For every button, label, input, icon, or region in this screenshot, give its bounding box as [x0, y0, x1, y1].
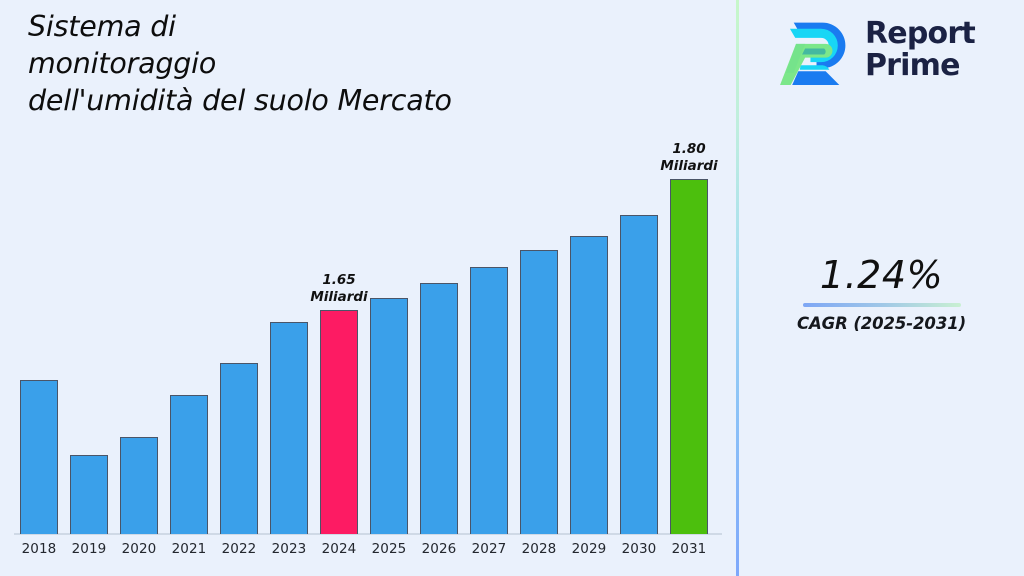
bar-2022[interactable]	[220, 363, 258, 534]
cagr-caption: CAGR (2025-2031)	[739, 314, 1024, 333]
bar-2027[interactable]	[470, 267, 508, 534]
bar-2018[interactable]	[20, 380, 58, 534]
bar-2028[interactable]	[520, 250, 558, 534]
bar-2023[interactable]	[270, 322, 308, 534]
bar-chart-plot: 2018201920202021202220231.65 Miliardi202…	[0, 0, 736, 576]
x-tick-label-2031: 2031	[659, 541, 719, 557]
slide-root: Sistema di monitoraggio dell'umidità del…	[0, 0, 1024, 576]
bar-2026[interactable]	[420, 283, 458, 534]
report-prime-r-logo-icon	[777, 12, 853, 88]
chart-panel: Sistema di monitoraggio dell'umidità del…	[0, 0, 736, 576]
brand-name: Report Prime	[865, 18, 975, 82]
brand-panel: Report Prime 1.24% CAGR (2025-2031)	[739, 0, 1024, 576]
bar-2024[interactable]	[320, 310, 358, 534]
bar-value-label-2031: 1.80 Miliardi	[634, 141, 744, 174]
bar-2020[interactable]	[120, 437, 158, 534]
bar-2019[interactable]	[70, 455, 108, 534]
brand-logo: Report Prime	[777, 12, 975, 88]
bar-2029[interactable]	[570, 236, 608, 534]
bar-2030[interactable]	[620, 215, 658, 534]
cagr-divider-rule	[803, 303, 961, 307]
bar-2025[interactable]	[370, 298, 408, 534]
bar-2031[interactable]	[670, 179, 708, 534]
bar-2021[interactable]	[170, 395, 208, 534]
cagr-block: 1.24% CAGR (2025-2031)	[739, 255, 1024, 333]
cagr-value: 1.24%	[739, 255, 1024, 297]
